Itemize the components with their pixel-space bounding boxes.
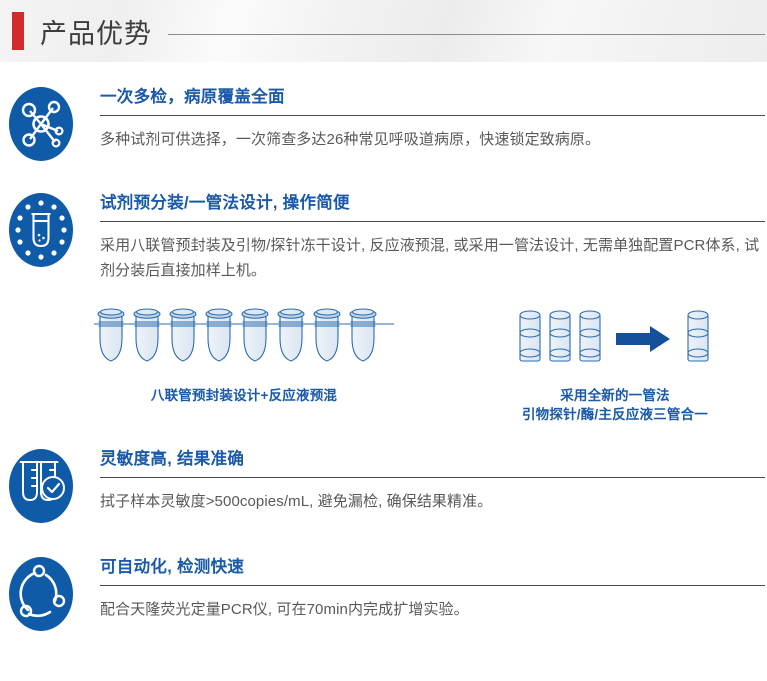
header-accent-bar: [12, 12, 24, 50]
molecule-network-icon: [8, 86, 74, 162]
feature-body: 灵敏度高, 结果准确 拭子样本灵敏度>500copies/mL, 避免漏检, 确…: [100, 446, 765, 514]
feature-divider: [100, 477, 765, 478]
feature-text: 配合天隆荧光定量PCR仪, 可在70min内完成扩增实验。: [100, 597, 765, 622]
feature-divider: [100, 115, 765, 116]
feature-list: 一次多检，病原覆盖全面 多种试剂可供选择，一次筛查多达26种常见呼吸道病原，快速…: [0, 84, 767, 632]
feature-divider: [100, 221, 765, 222]
eight-tube-strip-diagram: 八联管预封装设计+反应液预混: [94, 305, 394, 405]
header-divider: [168, 34, 765, 35]
feature-body: 可自动化, 检测快速 配合天隆荧光定量PCR仪, 可在70min内完成扩增实验。: [100, 554, 765, 622]
tube-diagram-row: 八联管预封装设计+反应液预混: [0, 305, 767, 424]
single-diagram-caption-line2: 引物探针/酶/主反应液三管合一: [510, 405, 720, 424]
feature-heading: 可自动化, 检测快速: [100, 556, 765, 578]
one-tube-method-diagram: 采用全新的一管法 引物探针/酶/主反应液三管合一: [510, 305, 720, 424]
page-title: 产品优势: [40, 12, 152, 51]
single-diagram-caption-line1: 采用全新的一管法: [510, 386, 720, 405]
test-tube-dots-icon: [8, 192, 74, 268]
strip-diagram-caption: 八联管预封装设计+反应液预混: [94, 386, 394, 405]
feature-text: 拭子样本灵敏度>500copies/mL, 避免漏检, 确保结果精准。: [100, 489, 765, 514]
feature-body: 试剂预分装/一管法设计, 操作简便 采用八联管预封装及引物/探针冻干设计, 反应…: [100, 190, 765, 283]
feature-text: 采用八联管预封装及引物/探针冻干设计, 反应液预混, 或采用一管法设计, 无需单…: [100, 233, 765, 283]
feature-heading: 试剂预分装/一管法设计, 操作简便: [100, 192, 765, 214]
feature-divider: [100, 585, 765, 586]
feature-text: 多种试剂可供选择，一次筛查多达26种常见呼吸道病原，快速锁定致病原。: [100, 127, 765, 152]
one-tube-method-graphic: [510, 305, 720, 373]
page-header: 产品优势: [0, 0, 767, 62]
eight-tube-strip-graphic: [94, 305, 394, 373]
automation-cycle-icon: [8, 556, 74, 632]
feature-heading: 灵敏度高, 结果准确: [100, 448, 765, 470]
feature-item-sensitivity: 灵敏度高, 结果准确 拭子样本灵敏度>500copies/mL, 避免漏检, 确…: [0, 446, 767, 524]
feature-item-automation: 可自动化, 检测快速 配合天隆荧光定量PCR仪, 可在70min内完成扩增实验。: [0, 554, 767, 632]
feature-heading: 一次多检，病原覆盖全面: [100, 86, 765, 108]
right-arrow-icon: [616, 326, 670, 352]
feature-body: 一次多检，病原覆盖全面 多种试剂可供选择，一次筛查多达26种常见呼吸道病原，快速…: [100, 84, 765, 152]
tubes-check-icon: [8, 448, 74, 524]
feature-item-prealiquot: 试剂预分装/一管法设计, 操作简便 采用八联管预封装及引物/探针冻干设计, 反应…: [0, 190, 767, 283]
feature-item-multiplex: 一次多检，病原覆盖全面 多种试剂可供选择，一次筛查多达26种常见呼吸道病原，快速…: [0, 84, 767, 162]
